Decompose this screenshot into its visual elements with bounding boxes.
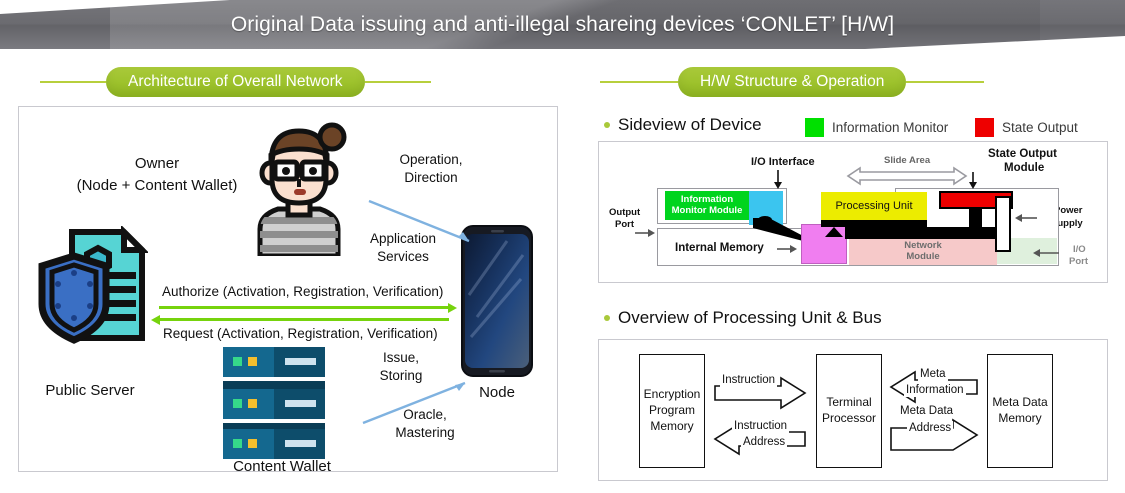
owner-label-line2: (Node + Content Wallet)	[77, 177, 238, 194]
right-section-header: H/W Structure & Operation	[600, 67, 1105, 97]
information-monitor-module: Information Monitor Module	[665, 191, 749, 220]
output-port-label-line2: Port	[615, 220, 634, 231]
terminal-processor-line1: Terminal	[826, 395, 871, 411]
owner-label-line1: Owner	[135, 155, 179, 172]
instruction-address-arrow-label-line1: Instruction	[732, 419, 789, 433]
request-arrow	[159, 318, 449, 321]
bus-heading-label: Overview of Processing Unit & Bus	[618, 308, 882, 328]
meta-data-address-arrow-label-line2: Address	[907, 421, 953, 435]
content-wallet-label: Content Wallet	[233, 458, 331, 475]
meta-data-memory-line1: Meta Data	[992, 395, 1047, 411]
instruction-arrow-label: Instruction	[720, 373, 777, 387]
slide-area-double-arrow-icon	[846, 166, 968, 191]
bus-heading: Overview of Processing Unit & Bus	[604, 308, 882, 328]
processing-unit-foot-left	[825, 224, 843, 242]
oracle-label-line2: Mastering	[395, 425, 454, 440]
legend-swatch-state-output	[975, 118, 994, 137]
pill-rule-left-2	[600, 81, 678, 83]
output-port-label-line1: Output	[609, 208, 640, 219]
authorize-arrow-head	[448, 303, 457, 313]
sideview-heading: Sideview of Device	[604, 115, 762, 135]
request-arrow-head	[151, 315, 160, 325]
operation-label-line2: Direction	[404, 170, 457, 185]
pill-rule-left	[40, 81, 106, 83]
architecture-panel: Owner (Node + Content Wallet)	[18, 106, 558, 472]
public-server-label: Public Server	[45, 382, 134, 399]
left-section-header: Architecture of Overall Network	[40, 67, 540, 97]
pill-rule-right-2	[906, 81, 984, 83]
encryption-program-memory-box: Encryption Program Memory	[639, 354, 705, 468]
owner-avatar-icon	[244, 121, 354, 256]
processing-unit-block: Processing Unit	[821, 192, 927, 220]
legend-label-state-output: State Output	[1002, 120, 1078, 135]
power-supply-rod	[995, 196, 1011, 252]
bullet-icon-2	[604, 315, 610, 321]
information-monitor-label-line2: Monitor Module	[672, 206, 743, 217]
meta-data-address-arrow-label-line1: Meta Data	[898, 404, 955, 418]
legend-information-monitor: Information Monitor	[805, 118, 948, 137]
operation-label-line1: Operation,	[399, 152, 462, 167]
encryption-program-memory-line3: Memory	[650, 419, 693, 435]
node-label: Node	[479, 384, 515, 401]
internal-memory-label: Internal Memory	[675, 242, 764, 255]
state-output-pointer-icon	[968, 172, 978, 195]
meta-data-memory-line2: Memory	[998, 411, 1041, 427]
io-port-label-line1: I/O	[1073, 245, 1086, 256]
application-label-line1: Application	[370, 231, 436, 246]
sideview-heading-label: Sideview of Device	[618, 115, 762, 135]
legend-swatch-information-monitor	[805, 118, 824, 137]
pill-rule-right	[365, 81, 431, 83]
application-label-line2: Services	[377, 249, 429, 264]
information-monitor-label-line1: Information	[681, 195, 733, 206]
processing-unit-label: Processing Unit	[835, 200, 912, 212]
smartphone-icon	[461, 225, 533, 377]
power-supply-arrow-icon	[1013, 210, 1037, 228]
meta-information-arrow-label-line2: Information	[904, 383, 966, 397]
app-title-bar: Original Data issuing and anti-illegal s…	[0, 0, 1125, 49]
page-title: Original Data issuing and anti-illegal s…	[0, 0, 1125, 49]
legend-label-information-monitor: Information Monitor	[832, 120, 948, 135]
state-output-module-label-line2: Module	[1004, 162, 1044, 175]
network-module-block: Network Module	[849, 239, 997, 265]
encryption-program-memory-line1: Encryption	[644, 387, 701, 403]
shield-document-icon	[36, 226, 148, 344]
state-output-module-label-line1: State Output	[988, 148, 1057, 161]
terminal-processor-line2: Processor	[822, 411, 876, 427]
encryption-program-memory-line2: Program	[649, 403, 695, 419]
issue-label-line1: Issue,	[383, 350, 419, 365]
server-stack-icon	[219, 345, 329, 461]
io-interface-label: I/O Interface	[751, 156, 815, 168]
bullet-icon	[604, 122, 610, 128]
bus-panel: Encryption Program Memory Terminal Proce…	[598, 339, 1108, 481]
internal-memory-arrow-icon	[777, 241, 799, 259]
instruction-address-arrow-label-line2: Address	[741, 435, 787, 449]
authorize-arrow	[159, 306, 449, 309]
oracle-label-line1: Oracle,	[403, 407, 447, 422]
sideview-panel: I/O Interface Slide Area State Output Mo…	[598, 141, 1108, 283]
io-interface-pointer-icon	[773, 170, 783, 195]
left-section-pill-label: Architecture of Overall Network	[106, 67, 365, 97]
output-port-arrow-icon	[635, 225, 657, 243]
legend-state-output: State Output	[975, 118, 1078, 137]
terminal-processor-box: Terminal Processor	[816, 354, 882, 468]
io-port-label-line2: Port	[1069, 257, 1088, 268]
meta-data-memory-box: Meta Data Memory	[987, 354, 1053, 468]
authorize-label: Authorize (Activation, Registration, Ver…	[162, 284, 443, 299]
network-module-label-line2: Module	[906, 252, 939, 263]
right-section-pill-label: H/W Structure & Operation	[678, 67, 906, 97]
request-label: Request (Activation, Registration, Verif…	[163, 326, 438, 341]
io-port-arrow-icon	[1031, 245, 1059, 263]
meta-information-arrow-label-line1: Meta	[918, 367, 948, 381]
